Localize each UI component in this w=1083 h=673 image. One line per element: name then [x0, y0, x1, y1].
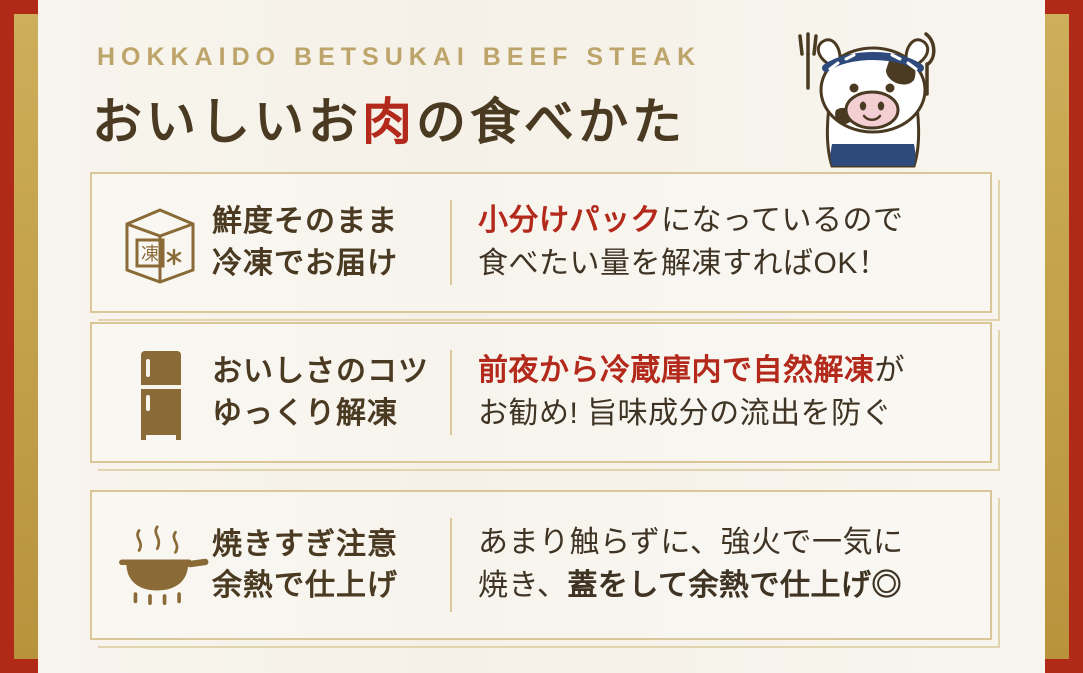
frozen-box-label: 凍	[141, 244, 159, 264]
cow-mascot-icon	[780, 24, 960, 170]
tip-2-emphasis: 前夜から冷蔵庫内で自然解凍	[478, 354, 875, 387]
tip-1-right-text: 小分けパックになっているので 食べたい量を解凍すればOK！	[478, 174, 974, 311]
tip-row-2: おいしさのコツ ゆっくり解凍 前夜から冷蔵庫内で自然解凍が お勧め! 旨味成分の…	[90, 322, 992, 463]
tip-3-divider	[450, 518, 452, 612]
tip-1-divider	[450, 200, 452, 285]
tip-1-emphasis: 小分けパック	[478, 204, 661, 237]
tip-1-right-line2: 食べたい量を解凍すればOK！	[478, 243, 974, 286]
tip-1-rest: になっているので	[661, 204, 904, 237]
tip-2-left-line1: おいしさのコツ	[212, 351, 432, 392]
tip-3-left-line2: 余熱で仕上げ	[212, 565, 432, 606]
tip-2-right-line2: お勧め! 旨味成分の流出を防ぐ	[478, 393, 974, 436]
tip-2-right-text: 前夜から冷蔵庫内で自然解凍が お勧め! 旨味成分の流出を防ぐ	[478, 324, 974, 461]
tip-row-1: 凍 鮮度そのまま 冷凍でお届け 小分けパックになっているので 食べたい量を解凍す…	[90, 172, 992, 313]
tip-1-right-line1: 小分けパックになっているので	[478, 200, 974, 243]
tip-2-rest: が	[875, 354, 906, 387]
page-title-part-a: おいしいお	[92, 94, 362, 150]
tip-3-left-text: 焼きすぎ注意 余熱で仕上げ	[212, 492, 432, 638]
tip-3-emphasis: 蓋をして余熱で仕上げ◎	[567, 569, 902, 602]
poster-content: HOKKAIDO BETSUKAI BEEF STEAK おいしいお肉の食べかた	[0, 0, 1083, 673]
poster: HOKKAIDO BETSUKAI BEEF STEAK おいしいお肉の食べかた	[0, 0, 1083, 673]
tip-3-right-text: あまり触らずに、強火で一気に 焼き、蓋をして余熱で仕上げ◎	[478, 492, 974, 638]
tip-row-3: 焼きすぎ注意 余熱で仕上げ あまり触らずに、強火で一気に 焼き、蓋をして余熱で仕…	[90, 490, 992, 640]
tip-2-left-line2: ゆっくり解凍	[212, 393, 432, 434]
eyebrow-text: HOKKAIDO BETSUKAI BEEF STEAK	[97, 43, 701, 72]
page-title: おいしいお肉の食べかた	[92, 82, 686, 154]
page-title-part-b: の食べかた	[416, 94, 686, 150]
tip-1-left-line2: 冷凍でお届け	[212, 243, 432, 284]
tip-2-left-text: おいしさのコツ ゆっくり解凍	[212, 324, 432, 461]
tip-2-divider	[450, 350, 452, 435]
tip-3-right-line2: 焼き、蓋をして余熱で仕上げ◎	[478, 565, 974, 608]
tip-3-right-line2-a: 焼き、	[478, 569, 567, 602]
tip-3-right-line1: あまり触らずに、強火で一気に	[478, 522, 974, 565]
frying-pan-icon	[110, 492, 210, 638]
refrigerator-icon	[110, 324, 210, 461]
page-title-highlight: 肉	[362, 94, 416, 150]
tip-2-right-line1: 前夜から冷蔵庫内で自然解凍が	[478, 350, 974, 393]
tip-1-left-text: 鮮度そのまま 冷凍でお届け	[212, 174, 432, 311]
tip-3-left-line1: 焼きすぎ注意	[212, 524, 432, 565]
tip-1-left-line1: 鮮度そのまま	[212, 201, 432, 242]
frozen-box-icon: 凍	[110, 174, 210, 311]
